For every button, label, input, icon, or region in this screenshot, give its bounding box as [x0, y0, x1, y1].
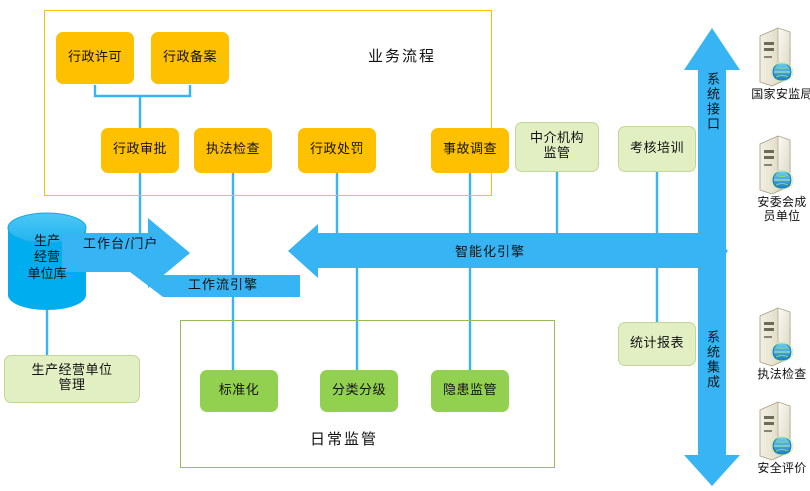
database-label: 生产 经营 单位库: [8, 234, 86, 283]
external-system-label: 执法检查: [744, 368, 810, 382]
external-system-law-enforcement[interactable]: 执法检查: [744, 368, 810, 382]
node-administrative-permit[interactable]: 行政许可: [56, 32, 134, 84]
node-hazard-supervision[interactable]: 隐患监管: [431, 370, 509, 412]
external-system-label: 国家安监局: [744, 88, 810, 102]
workflow-engine-arrow: [62, 218, 300, 297]
node-enterprise-management[interactable]: 生产经营单位 管理: [4, 355, 140, 403]
external-system-national-bureau[interactable]: 国家安监局: [744, 88, 810, 102]
node-agency-supervision[interactable]: 中介机构 监管: [515, 122, 599, 172]
node-assessment-training[interactable]: 考核培训: [618, 126, 696, 172]
node-administrative-approval[interactable]: 行政审批: [101, 128, 179, 173]
external-system-committee-members[interactable]: 安委会成 员单位: [744, 196, 810, 224]
external-system-label: 安委会成 员单位: [744, 196, 810, 224]
external-system-safety-evaluation[interactable]: 安全评价: [744, 462, 810, 476]
node-law-enforcement-inspection[interactable]: 执法检查: [194, 128, 272, 173]
node-standardization[interactable]: 标准化: [200, 370, 278, 412]
node-statistical-report[interactable]: 统计报表: [618, 322, 696, 366]
intelligent-engine-arrow: [288, 224, 728, 278]
daily-supervision-label: 日常监管: [310, 428, 378, 449]
intelligent-engine-arrow-shape: [288, 224, 728, 278]
node-accident-investigation[interactable]: 事故调查: [431, 128, 509, 173]
node-administrative-penalty[interactable]: 行政处罚: [298, 128, 376, 173]
node-administrative-record[interactable]: 行政备案: [151, 32, 229, 84]
diagram-canvas: 业务流程 日常监管 行政许可 行政备案 行政审批 执法检查 行政处罚 事故调查 …: [0, 0, 810, 491]
node-classification-grading[interactable]: 分类分级: [320, 370, 398, 412]
workflow-engine-arrow-shape: [130, 253, 300, 297]
business-process-label: 业务流程: [368, 45, 436, 66]
external-system-label: 安全评价: [744, 462, 810, 476]
